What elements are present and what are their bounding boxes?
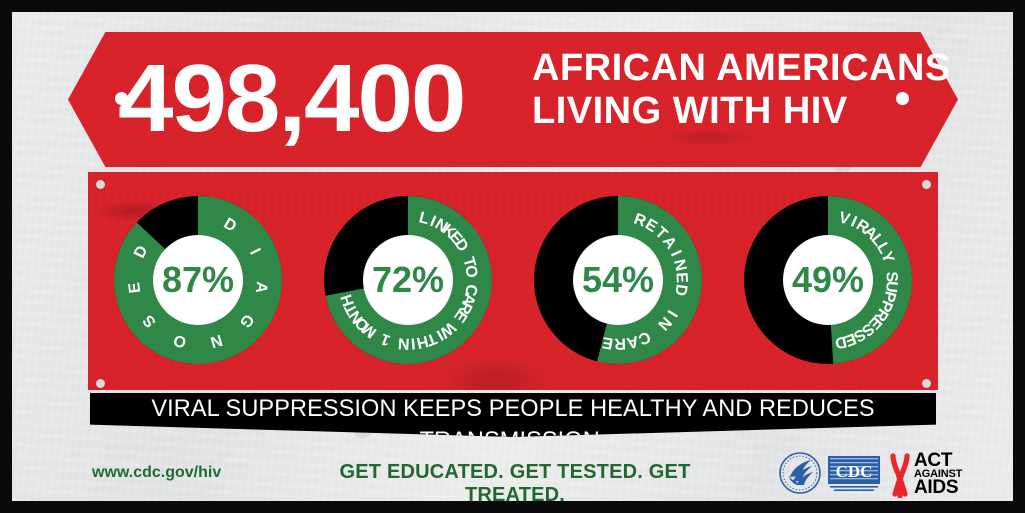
logo-row: CDC ACT AGAINST AIDS <box>770 450 985 502</box>
banner-dot-right-icon <box>896 92 909 105</box>
panel-rivet-icon <box>922 180 931 189</box>
donut-value-label: 49% <box>792 259 864 300</box>
svg-text:O: O <box>461 264 480 279</box>
headline-line-1: AFRICAN AMERICANS <box>532 47 922 90</box>
statement-text: VIRAL SUPPRESSION KEEPS PEOPLE HEALTHY A… <box>98 393 927 425</box>
donut-value-label: 87% <box>162 259 234 300</box>
donut-chart-diagnosed: 87%DIAGNOSED <box>112 194 284 366</box>
cdc-logo-icon: CDC <box>828 456 880 497</box>
headline-line-2: LIVING WITH HIV <box>532 90 922 133</box>
hhs-seal-icon <box>778 450 822 501</box>
website-url[interactable]: www.cdc.gov/hiv <box>92 464 221 482</box>
headline-text: AFRICAN AMERICANS LIVING WITH HIV <box>532 47 922 133</box>
aids-label: AIDS <box>914 480 958 496</box>
svg-text:E: E <box>673 272 690 284</box>
infographic-poster: 498,400 AFRICAN AMERICANS LIVING WITH HI… <box>0 0 1025 513</box>
panel-rivet-icon <box>96 180 105 189</box>
donut-value-label: 72% <box>372 259 444 300</box>
donut-chart-linked-to-care: 72%LINKEDTOCAREWITHIN1MONTH <box>322 194 494 366</box>
banner-dot-left-icon <box>115 92 128 105</box>
tagline-text: GET EDUCATED. GET TESTED. GET TREATED. <box>300 461 730 507</box>
donut-virally-suppressed: 49%VIRALLYSUPPRESSED <box>742 194 914 366</box>
donut-diagnosed: 87%DIAGNOSED <box>112 194 284 366</box>
big-number: 498,400 <box>118 40 555 158</box>
panel-rivet-icon <box>96 379 105 388</box>
panel-rivet-icon <box>922 379 931 388</box>
act-label: ACT <box>914 453 952 469</box>
svg-text:CDC: CDC <box>836 462 873 481</box>
svg-text:N: N <box>398 334 411 352</box>
donut-chart-virally-suppressed: 49%VIRALLYSUPPRESSED <box>742 194 914 366</box>
donut-retained-in-care: 54%RETAINEDINCARE <box>532 194 704 366</box>
red-ribbon-icon <box>888 452 912 498</box>
act-against-aids-logo: ACT AGAINST AIDS <box>888 452 912 503</box>
donut-chart-retained-in-care: 54%RETAINEDINCARE <box>532 194 704 366</box>
donut-value-label: 54% <box>582 259 654 300</box>
donut-linked-to-care: 72%LINKEDTOCAREWITHIN1MONTH <box>322 194 494 366</box>
svg-text:R: R <box>614 335 627 352</box>
